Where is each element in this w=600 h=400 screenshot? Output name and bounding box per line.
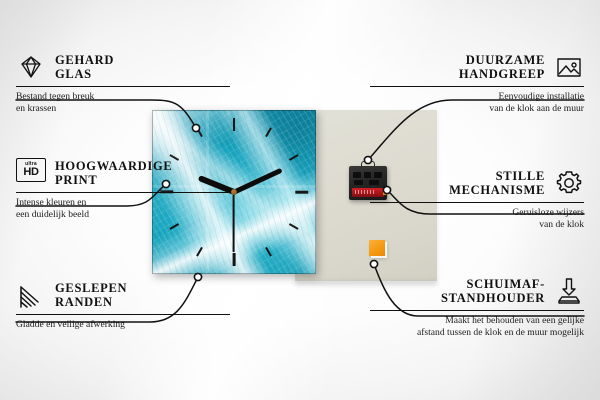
feature-stille-mechanisme: STILLEMECHANISME Geruisloze wijzersvan d…: [370, 168, 584, 231]
feature-geslepen-randen: GESLEPENRANDEN Gladde en veilige afwerki…: [16, 280, 230, 331]
feature-title: HOOGWAARDIGEPRINT: [55, 159, 172, 187]
feature-description: Bestand tegen breuken krassen: [16, 91, 230, 114]
feature-description: Gladde en veilige afwerking: [16, 319, 230, 331]
feature-duurzame-handgreep: DUURZAMEHANDGREEP Eenvoudige installatie…: [370, 52, 584, 115]
arrow-down-spacer-icon: [554, 276, 584, 306]
title-rule: [370, 310, 584, 311]
title-rule: [370, 86, 584, 87]
title-rule: [16, 314, 230, 315]
foam-spacer: [369, 240, 385, 256]
diamond-icon: [16, 52, 46, 82]
ultra-hd-icon: ultra HD: [16, 158, 46, 188]
movement-vent: [353, 172, 361, 178]
feature-description: Intense kleuren eneen duidelijk beeld: [16, 197, 230, 220]
feature-title: SCHUIMAF-STANDHOUDER: [441, 277, 545, 305]
feature-title: GEHARDGLAS: [55, 53, 114, 81]
infographic-canvas: GEHARDGLAS Bestand tegen breuken krassen…: [0, 0, 600, 400]
feature-schuimafstandhouder: SCHUIMAF-STANDHOUDER Maakt het behouden …: [370, 276, 584, 339]
feature-description: Maakt het behouden van een gelijkeafstan…: [370, 315, 584, 338]
feature-description: Geruisloze wijzersvan de klok: [370, 207, 584, 230]
gear-icon: [554, 168, 584, 198]
feature-description: Eenvoudige installatievan de klok aan de…: [370, 91, 584, 114]
movement-hanger: [361, 161, 375, 168]
feature-title: STILLEMECHANISME: [449, 169, 545, 197]
title-rule: [370, 202, 584, 203]
title-rule: [16, 86, 230, 87]
beveled-edge-icon: [16, 280, 46, 310]
feature-hoogwaardige-print: ultra HD HOOGWAARDIGEPRINT Intense kleur…: [16, 158, 230, 221]
feature-title: GESLEPENRANDEN: [55, 281, 127, 309]
title-rule: [16, 192, 230, 193]
framed-picture-icon: [554, 52, 584, 82]
movement-vent: [354, 180, 363, 185]
feature-title: DUURZAMEHANDGREEP: [459, 53, 545, 81]
feature-gehard-glas: GEHARDGLAS Bestand tegen breuken krassen: [16, 52, 230, 115]
